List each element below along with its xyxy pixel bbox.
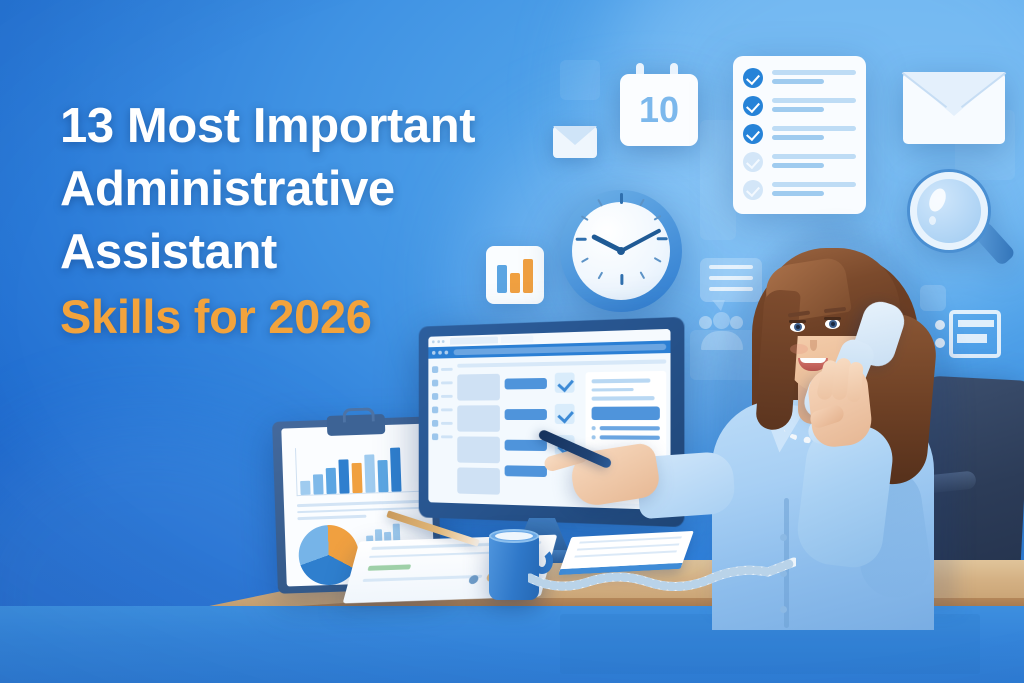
- checklist-item: [743, 96, 856, 116]
- check-icon[interactable]: [555, 372, 575, 392]
- title-line-1: 13 Most Important: [60, 95, 560, 158]
- eye: [790, 322, 805, 332]
- checklist-card: [733, 56, 866, 214]
- title-line-2: Administrative: [60, 158, 560, 221]
- title-accent-line: Skills for 2026: [60, 286, 560, 348]
- task-row[interactable]: [505, 404, 581, 424]
- background-shape: [560, 60, 600, 100]
- task-row[interactable]: [505, 465, 581, 477]
- checklist-item: [743, 124, 856, 144]
- page-title: 13 Most Important Administrative Assista…: [60, 95, 560, 348]
- phone-cord: [528, 552, 796, 592]
- clipboard-bar-chart: [295, 444, 421, 496]
- checklist-item: [743, 68, 856, 88]
- check-icon: [743, 180, 763, 200]
- check-icon: [743, 96, 763, 116]
- eye: [825, 319, 840, 329]
- check-icon: [743, 152, 763, 172]
- calendar-icon: 10: [620, 63, 698, 147]
- calendar-day-number: 10: [620, 74, 698, 146]
- hero-illustration: 13 Most Important Administrative Assista…: [0, 0, 1024, 683]
- clipboard-clamp: [327, 414, 386, 436]
- check-icon[interactable]: [555, 404, 575, 424]
- clock-icon: [560, 190, 682, 312]
- app-sidebar[interactable]: [428, 358, 455, 503]
- title-line-3: Assistant: [60, 221, 560, 284]
- task-row[interactable]: [505, 372, 581, 393]
- checklist-item: [743, 152, 856, 172]
- checklist-item: [743, 180, 856, 200]
- check-icon: [743, 68, 763, 88]
- thumbnail-column: [457, 374, 500, 500]
- envelope-icon: [903, 72, 1005, 144]
- check-icon: [743, 124, 763, 144]
